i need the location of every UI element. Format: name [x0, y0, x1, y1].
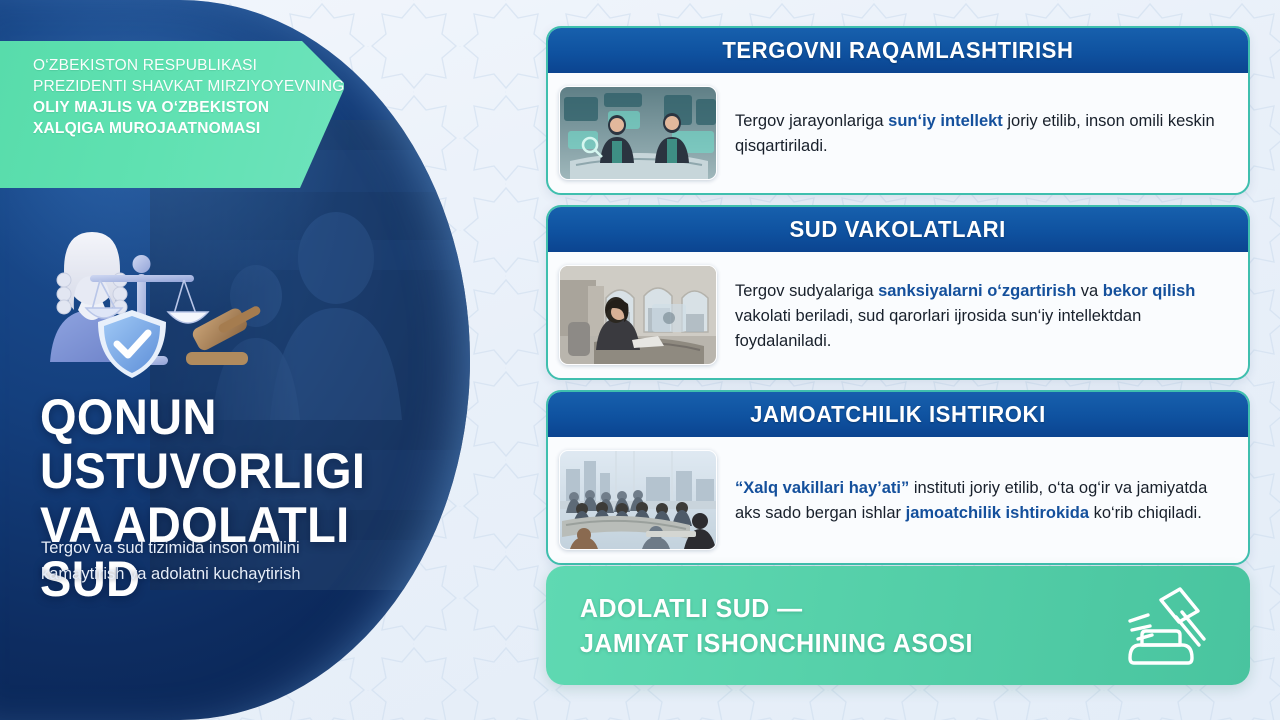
feature-card-sud-vakolatlari[interactable]: SUD VAKOLATLARI: [546, 205, 1250, 380]
ribbon-line-3: OLIY MAJLIS VA O‘ZBEKISTON: [33, 97, 326, 118]
feature-card-tergovni-raqamlashtirish[interactable]: TERGOVNI RAQAMLASHTIRISH: [546, 26, 1250, 195]
card-body: “Xalq vakillari hay’ati” instituti joriy…: [548, 437, 1248, 563]
feature-card-jamoatchilik-ishtiroki[interactable]: JAMOATCHILIK ISHTIROKI: [546, 390, 1250, 565]
banner-line-1: ADOLATLI SUD —: [580, 591, 973, 626]
card-text-plain-1: Tergov sudyalariga: [735, 282, 878, 300]
card-body: Tergov jarayonlariga sun‘iy intellekt jo…: [548, 73, 1248, 193]
conclusion-banner: ADOLATLI SUD — JAMIYAT ISHONCHINING ASOS…: [546, 566, 1250, 685]
banner-line-2: JAMIYAT ISHONCHINING ASOSI: [580, 626, 973, 661]
banner-text: ADOLATLI SUD — JAMIYAT ISHONCHINING ASOS…: [580, 591, 989, 661]
card-header-title: TERGOVNI RAQAMLASHTIRISH: [722, 37, 1073, 64]
card-text-plain-2: va: [1076, 282, 1103, 300]
card-header: JAMOATCHILIK ISHTIROKI: [548, 392, 1248, 437]
card-text: Tergov sudyalariga sanksiyalarni o‘zgart…: [735, 277, 1230, 354]
ribbon-line-2: PREZIDENTI SHAVKAT MIRZIYOYEVNING: [33, 76, 326, 97]
card-text-plain-3: ko‘rib chiqiladi.: [1089, 504, 1202, 522]
card-text-highlight-1: sanksiyalarni o‘zgartirish: [878, 282, 1076, 300]
card-text-plain-3: vakolati beriladi, sud qarorlari ijrosid…: [735, 307, 1141, 350]
card-header-title: SUD VAKOLATLARI: [790, 216, 1006, 243]
card-header: TERGOVNI RAQAMLASHTIRISH: [548, 28, 1248, 73]
hero-title-line-1: QONUN USTUVORLIGI: [40, 390, 444, 498]
public-assembly-courtroom-photo: [559, 450, 717, 550]
card-text: “Xalq vakillari hay’ati” instituti joriy…: [735, 474, 1230, 526]
feature-card-list: TERGOVNI RAQAMLASHTIRISH: [546, 26, 1250, 575]
hero-subtitle: Tergov va sud tizimida inson omilini kam…: [41, 536, 371, 587]
card-text: Tergov jarayonlariga sun‘iy intellekt jo…: [735, 107, 1230, 159]
infographic-stage: O‘ZBEKISTON RESPUBLIKASI PREZIDENTI SHAV…: [0, 0, 1280, 720]
card-text-highlight-2: jamoatchilik ishtirokida: [906, 504, 1089, 522]
presidential-address-ribbon: O‘ZBEKISTON RESPUBLIKASI PREZIDENTI SHAV…: [0, 41, 344, 188]
judge-at-desk-photo: [559, 265, 717, 365]
card-text-highlight-1: “Xalq vakillari hay’ati”: [735, 479, 909, 497]
card-header-title: JAMOATCHILIK ISHTIROKI: [750, 401, 1046, 428]
ribbon-line-1: O‘ZBEKISTON RESPUBLIKASI: [33, 55, 326, 76]
ribbon-line-4: XALQIGA MUROJAATNOMASI: [33, 118, 326, 139]
justice-judge-scales-icon: [34, 214, 266, 378]
card-text-plain-1: Tergov jarayonlariga: [735, 112, 888, 130]
card-text-highlight-2: bekor qilish: [1103, 282, 1196, 300]
gavel-icon: [1114, 585, 1206, 667]
card-header: SUD VAKOLATLARI: [548, 207, 1248, 252]
card-body: Tergov sudyalariga sanksiyalarni o‘zgart…: [548, 252, 1248, 378]
tech-operations-room-photo: [559, 86, 717, 180]
card-text-highlight-1: sun‘iy intellekt: [888, 112, 1003, 130]
